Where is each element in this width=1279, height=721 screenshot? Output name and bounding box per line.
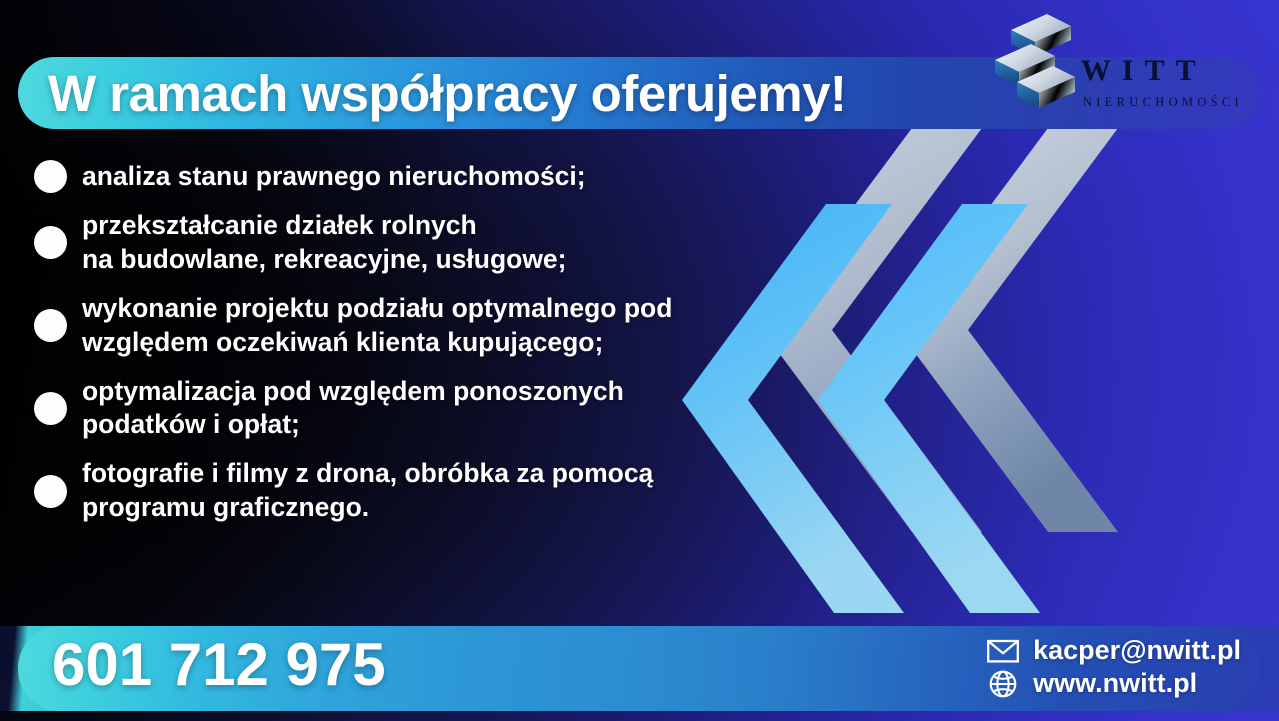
brand-wordmark: WITT NIERUCHOMOŚCI [1081,56,1243,109]
contact-details: kacper@nwitt.pl www.nwitt.pl [986,636,1241,699]
chevron-blue-far [818,204,1040,613]
phone-number[interactable]: 601 712 975 [52,630,386,699]
promotional-poster: W ramach współpracy oferujemy! [0,0,1279,721]
list-item-label: analiza stanu prawnego nieruchomości; [82,160,586,194]
bullet-dot-icon [34,392,67,425]
bullet-dot-icon [34,226,67,259]
list-item: optymalizacja pod względem ponoszonychpo… [34,375,824,443]
envelope-icon [986,636,1020,666]
brand-logo: WITT NIERUCHOMOŚCI [991,8,1243,120]
list-item: wykonanie projektu podziału optymalnego … [34,292,824,360]
chevron-silver-far [898,128,1118,532]
bullet-dot-icon [34,160,67,193]
page-title: W ramach współpracy oferujemy! [48,64,846,123]
list-item-label: wykonanie projektu podziału optymalnego … [82,292,672,360]
brand-subtitle: NIERUCHOMOŚCI [1083,96,1243,109]
offer-list: analiza stanu prawnego nieruchomości; pr… [34,160,824,540]
list-item-label: fotografie i filmy z drona, obróbka za p… [82,457,653,525]
email-row[interactable]: kacper@nwitt.pl [986,636,1241,666]
website-row[interactable]: www.nwitt.pl [986,669,1241,699]
globe-icon [986,669,1020,699]
list-item-label: optymalizacja pod względem ponoszonychpo… [82,375,624,443]
list-item-label: przekształcanie działek rolnychna budowl… [82,209,567,277]
list-item: przekształcanie działek rolnychna budowl… [34,209,824,277]
bullet-dot-icon [34,309,67,342]
email-address: kacper@nwitt.pl [1033,636,1241,665]
bullet-dot-icon [34,475,67,508]
website-url: www.nwitt.pl [1033,669,1197,698]
list-item: analiza stanu prawnego nieruchomości; [34,160,824,194]
nwitt-isometric-n-logo-icon [991,8,1077,120]
brand-name: WITT [1081,56,1243,86]
list-item: fotografie i filmy z drona, obróbka za p… [34,457,824,525]
